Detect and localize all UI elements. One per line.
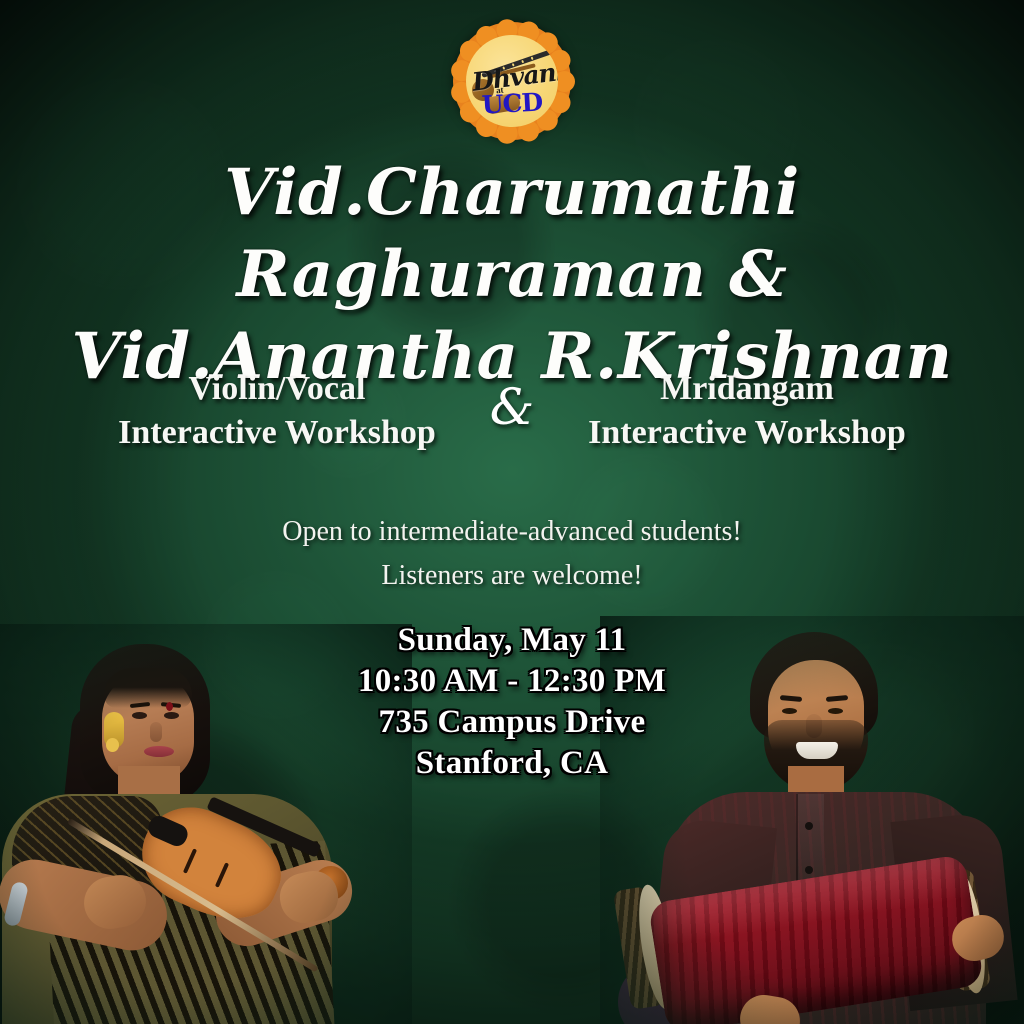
headline: Vid.Charumathi Raghuraman & Vid.Anantha … [0, 152, 1024, 398]
event-address-line-1: 735 Campus Drive [0, 702, 1024, 743]
role-left-title: Violin/Vocal [77, 368, 477, 410]
dhvani-logo[interactable]: Dhvani at UCD [453, 22, 571, 140]
event-time: 10:30 AM - 12:30 PM [0, 661, 1024, 702]
role-right: Mridangam Interactive Workshop [547, 368, 947, 456]
headline-line-1: Vid.Charumathi Raghuraman & [0, 152, 1024, 316]
role-right-subtitle: Interactive Workshop [547, 410, 947, 456]
role-left: Violin/Vocal Interactive Workshop [77, 368, 477, 456]
event-poster: Dhvani at UCD Vid.Charumathi Raghuraman … [0, 0, 1024, 1024]
event-address-line-2: Stanford, CA [0, 743, 1024, 784]
role-right-title: Mridangam [547, 368, 947, 410]
audience-note: Open to intermediate-advanced students! … [0, 510, 1024, 598]
audience-line-2: Listeners are welcome! [0, 554, 1024, 598]
event-details: Sunday, May 11 10:30 AM - 12:30 PM 735 C… [0, 620, 1024, 784]
ampersand-separator: & [477, 378, 547, 436]
role-left-subtitle: Interactive Workshop [77, 410, 477, 456]
logo-disc: Dhvani at UCD [466, 35, 558, 127]
logo-org-text: UCD [466, 87, 558, 121]
audience-line-1: Open to intermediate-advanced students! [0, 510, 1024, 554]
workshop-roles: Violin/Vocal Interactive Workshop & Mrid… [0, 368, 1024, 456]
event-date: Sunday, May 11 [0, 620, 1024, 661]
